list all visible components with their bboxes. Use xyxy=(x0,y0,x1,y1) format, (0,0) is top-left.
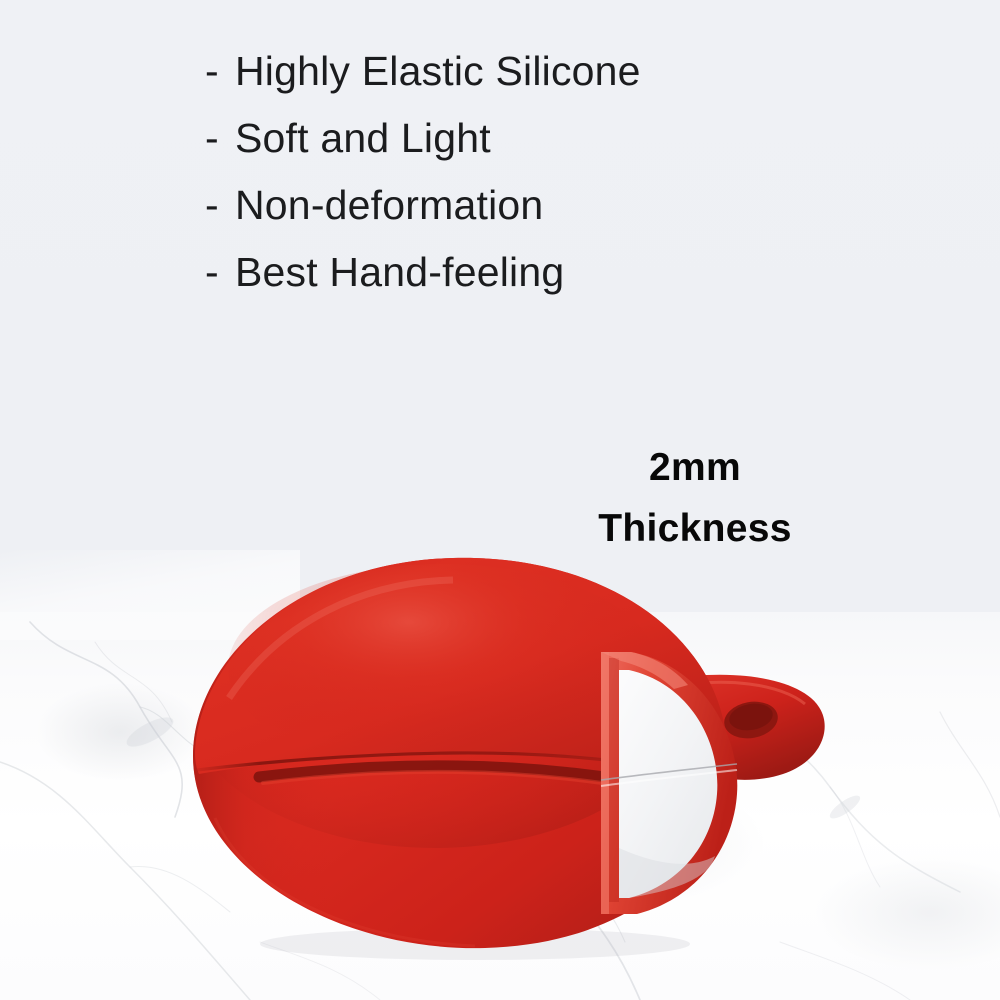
product-image xyxy=(185,548,830,960)
feature-item: - Non-deformation xyxy=(205,172,845,239)
feature-list: - Highly Elastic Silicone - Soft and Lig… xyxy=(205,38,845,306)
feature-label: Highly Elastic Silicone xyxy=(235,38,641,105)
bullet-dash: - xyxy=(205,172,235,239)
thickness-value: 2mm xyxy=(500,437,890,498)
bullet-dash: - xyxy=(205,239,235,306)
bullet-dash: - xyxy=(205,105,235,172)
feature-item: - Soft and Light xyxy=(205,105,845,172)
feature-label: Soft and Light xyxy=(235,105,491,172)
feature-label: Best Hand-feeling xyxy=(235,239,564,306)
feature-item: - Best Hand-feeling xyxy=(205,239,845,306)
bullet-dash: - xyxy=(205,38,235,105)
feature-label: Non-deformation xyxy=(235,172,543,239)
product-feature-image: - Highly Elastic Silicone - Soft and Lig… xyxy=(0,0,1000,1000)
feature-item: - Highly Elastic Silicone xyxy=(205,38,845,105)
silicone-case-illustration xyxy=(185,548,830,960)
thickness-callout: 2mm Thickness xyxy=(500,437,890,559)
